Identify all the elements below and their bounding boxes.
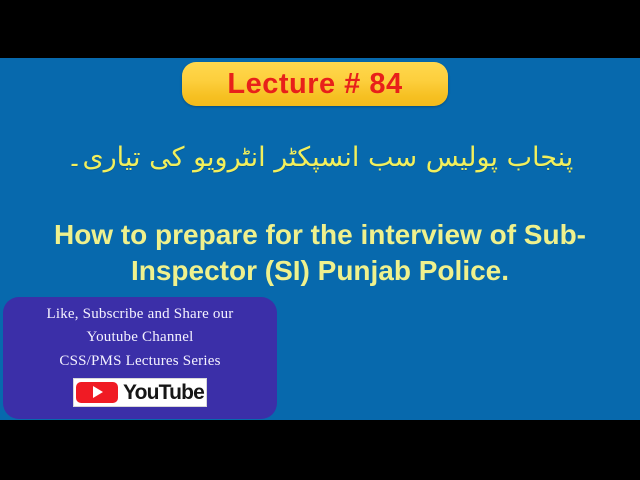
urdu-headline: پنجاب پولیس سب انسپکٹر انٹرویو کی تیاری۔ bbox=[0, 140, 640, 176]
lecture-number-badge: Lecture # 84 bbox=[182, 62, 448, 106]
youtube-logo[interactable]: YouTube bbox=[73, 378, 207, 407]
english-headline-line-2: Inspector (SI) Punjab Police. bbox=[8, 253, 632, 289]
promo-line-3: CSS/PMS Lectures Series bbox=[3, 350, 277, 373]
letterbox-bottom bbox=[0, 420, 640, 480]
youtube-wordmark: YouTube bbox=[123, 382, 204, 403]
slide-root: Lecture # 84 پنجاب پولیس سب انسپکٹر انٹر… bbox=[0, 0, 640, 480]
letterbox-top bbox=[0, 0, 640, 58]
promo-line-1: Like, Subscribe and Share our bbox=[3, 303, 277, 326]
subscribe-promo-card: Like, Subscribe and Share our Youtube Ch… bbox=[3, 297, 277, 419]
promo-line-2: Youtube Channel bbox=[3, 326, 277, 349]
english-headline: How to prepare for the interview of Sub-… bbox=[8, 217, 632, 289]
lecture-number-label: Lecture # 84 bbox=[227, 70, 402, 99]
english-headline-line-1: How to prepare for the interview of Sub- bbox=[8, 217, 632, 253]
slide-stage: Lecture # 84 پنجاب پولیس سب انسپکٹر انٹر… bbox=[0, 58, 640, 420]
play-triangle-icon bbox=[76, 382, 118, 403]
